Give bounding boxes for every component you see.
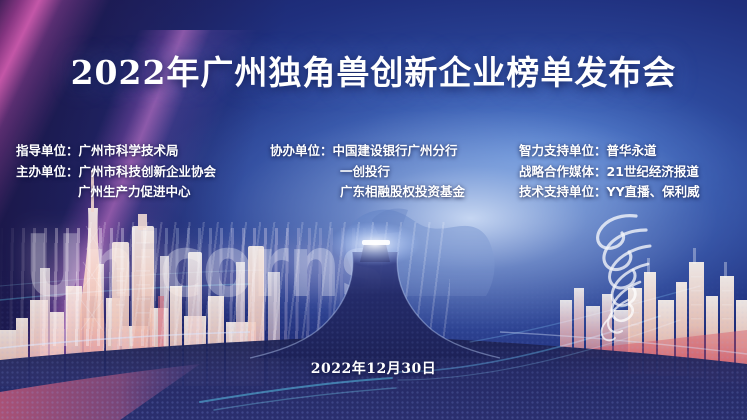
credits-column-right: 智力支持单位：普华永道 战略合作媒体：21世纪经济报道 技术支持单位：YY直播、… [519,141,700,203]
poster-canvas: Unicorns [0,0,747,420]
credit-value: 广州市科技创新企业协会 [79,162,217,183]
credit-row: 一创投行 [270,162,465,183]
credit-row: 广州生产力促进中心 [16,182,216,203]
credit-row: 广东相融股权投资基金 [270,182,465,203]
credit-value: 21世纪经济报道 [607,162,699,183]
credit-value: 广州市科学技术局 [79,141,179,162]
credit-row: 技术支持单位：YY直播、保利威 [519,182,700,203]
credit-row: 战略合作媒体：21世纪经济报道 [519,162,700,183]
credit-label: 主办单位： [16,162,79,183]
credits-column-middle: 协办单位：中国建设银行广州分行 一创投行 广东相融股权投资基金 [270,141,465,203]
credit-value: 中国建设银行广州分行 [333,141,458,162]
credit-label: 协办单位： [270,141,333,162]
credit-label: 智力支持单位： [519,141,607,162]
credit-label: 战略合作媒体： [519,162,607,183]
credit-row: 指导单位：广州市科学技术局 [16,141,216,162]
credit-label: 技术支持单位： [519,182,607,203]
credit-row: 协办单位：中国建设银行广州分行 [270,141,465,162]
credit-label: 指导单位： [16,141,79,162]
credit-value: 广东相融股权投资基金 [340,182,465,203]
event-date: 2022年12月30日 [0,358,747,378]
credits-block: 指导单位：广州市科学技术局 主办单位：广州市科技创新企业协会 广州生产力促进中心… [0,141,747,213]
credit-row: 智力支持单位：普华永道 [519,141,700,162]
page-title: 2022年广州独角兽创新企业榜单发布会 [0,46,747,94]
credit-value: 普华永道 [607,141,657,162]
credit-row: 主办单位：广州市科技创新企业协会 [16,162,216,183]
credit-value: 广州生产力促进中心 [78,182,191,203]
credits-column-left: 指导单位：广州市科学技术局 主办单位：广州市科技创新企业协会 广州生产力促进中心 [16,141,216,203]
credit-value: 一创投行 [340,162,390,183]
credit-value: YY直播、保利威 [607,182,700,203]
unicorns-watermark: Unicorns [24,224,383,310]
